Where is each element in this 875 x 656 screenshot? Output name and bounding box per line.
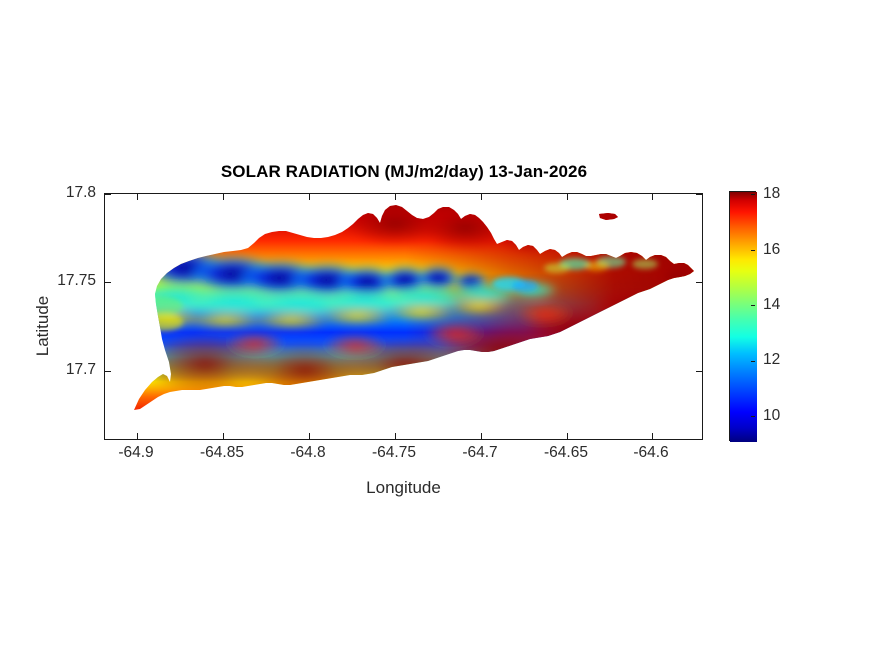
xtick-label: -64.6 (633, 444, 668, 462)
ytick-mark-right (696, 194, 702, 195)
colorbar-label: 12 (763, 351, 780, 369)
xtick-mark (223, 433, 224, 439)
colorbar-label: 18 (763, 185, 780, 203)
xtick-label: -64.85 (200, 444, 244, 462)
xtick-mark-top (567, 194, 568, 200)
figure-canvas: SOLAR RADIATION (MJ/m2/day) 13-Jan-2026 (0, 0, 875, 656)
colorbar[interactable] (729, 191, 756, 441)
xtick-mark (395, 433, 396, 439)
xtick-mark (567, 433, 568, 439)
colorbar-label: 16 (763, 241, 780, 259)
ytick-mark (105, 194, 111, 195)
xtick-label: -64.7 (462, 444, 497, 462)
ytick-label: 17.8 (66, 184, 96, 202)
colorbar-tick (751, 250, 755, 251)
xtick-mark (652, 433, 653, 439)
ytick-label: 17.75 (57, 272, 96, 290)
xtick-label: -64.8 (290, 444, 325, 462)
xtick-mark (309, 433, 310, 439)
colorbar-tick (751, 361, 755, 362)
colorbar-gradient (730, 192, 757, 442)
xtick-mark-top (481, 194, 482, 200)
ytick-mark (105, 371, 111, 372)
raster-map (105, 194, 702, 439)
map-axes[interactable] (104, 193, 703, 440)
xtick-mark (481, 433, 482, 439)
x-axis-title: Longitude (104, 478, 703, 498)
colorbar-label: 14 (763, 296, 780, 314)
xtick-mark-top (309, 194, 310, 200)
xtick-mark-top (395, 194, 396, 200)
xtick-label: -64.65 (544, 444, 588, 462)
xtick-mark (137, 433, 138, 439)
colorbar-tick (751, 416, 755, 417)
page-title: SOLAR RADIATION (MJ/m2/day) 13-Jan-2026 (104, 162, 704, 182)
xtick-mark-top (137, 194, 138, 200)
xtick-mark-top (652, 194, 653, 200)
colorbar-tick (751, 194, 755, 195)
ytick-label: 17.7 (66, 361, 96, 379)
y-axis-title: Latitude (33, 256, 53, 396)
ytick-mark (105, 282, 111, 283)
xtick-label: -64.75 (372, 444, 416, 462)
colorbar-label: 10 (763, 407, 780, 425)
ytick-mark-right (696, 282, 702, 283)
ytick-mark-right (696, 371, 702, 372)
colorbar-tick (751, 305, 755, 306)
xtick-mark-top (223, 194, 224, 200)
xtick-label: -64.9 (118, 444, 153, 462)
